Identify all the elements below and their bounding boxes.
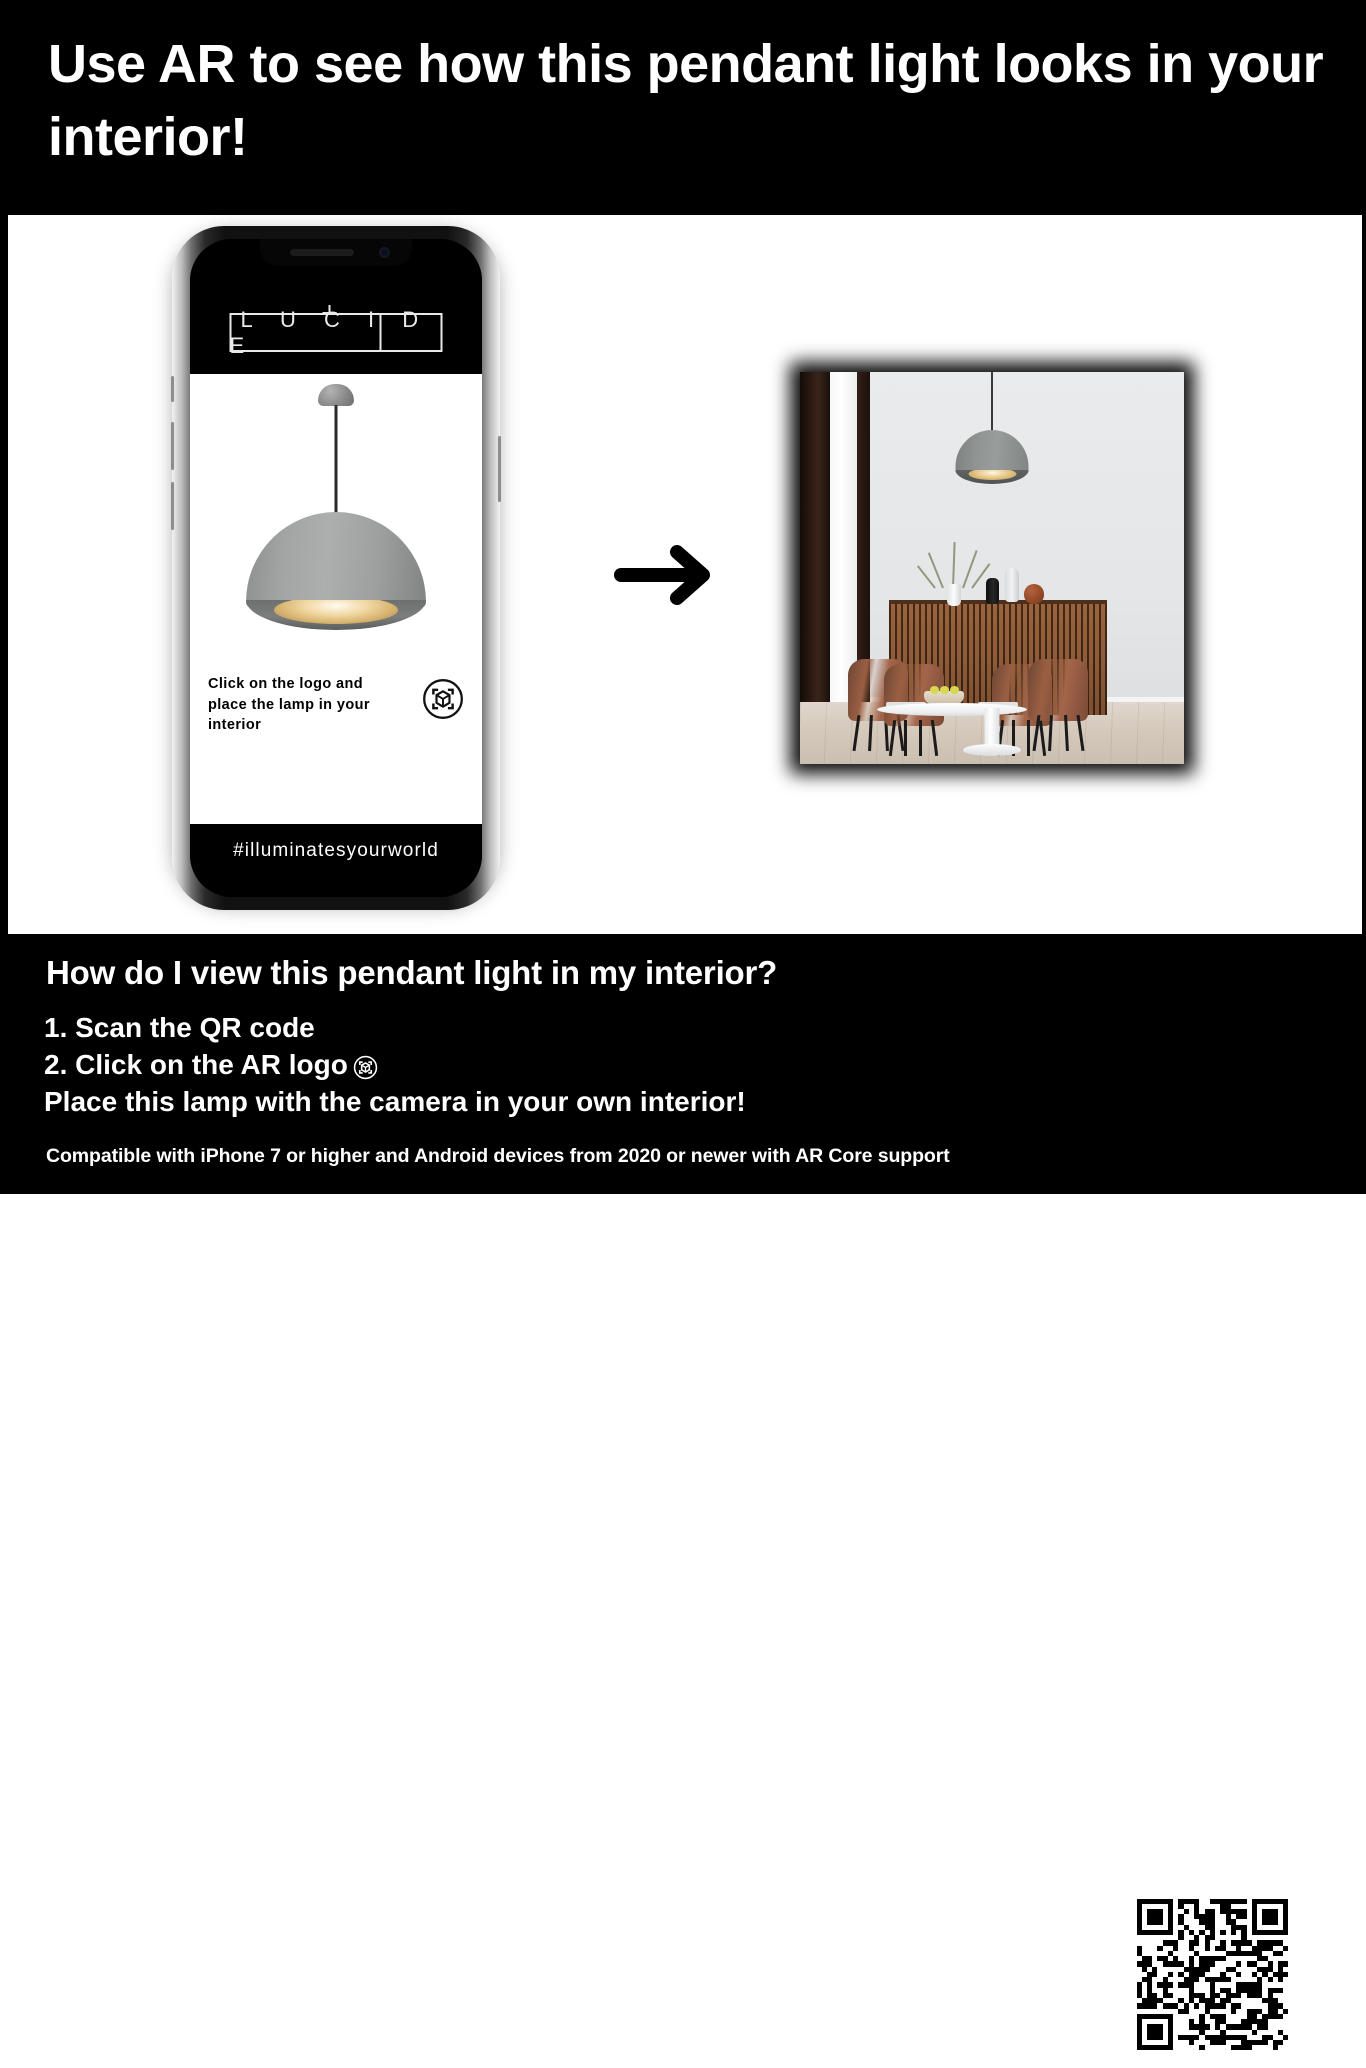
hashtag-label: #illuminatesyourworld	[233, 840, 439, 862]
footer-heading: How do I view this pendant light in my i…	[46, 954, 777, 992]
phone-screen[interactable]: L U C I D E	[190, 239, 482, 897]
step-3: Place this lamp with the camera in your …	[44, 1083, 746, 1120]
poster-root: Use AR to see how this pendant light loo…	[0, 0, 1366, 1194]
interior-room-photo	[790, 362, 1194, 774]
pendant-lamp-illustration	[246, 384, 426, 644]
arrow-right-icon	[613, 540, 718, 610]
photo-frame	[800, 372, 1184, 764]
dining-table-base	[963, 744, 1021, 756]
plant-vase	[947, 584, 961, 606]
header-banner: Use AR to see how this pendant light loo…	[0, 0, 1366, 215]
fruit	[950, 686, 959, 694]
lucide-logo[interactable]: L U C I D E	[230, 313, 443, 352]
ar-cube-icon[interactable]	[422, 678, 464, 720]
qr-code-panel[interactable]	[1120, 1881, 1305, 2068]
footer-steps: 1. Scan the QR code 2. Click on the AR l…	[44, 1009, 746, 1121]
fruit	[930, 686, 939, 694]
dining-table-top	[877, 703, 1027, 716]
lamp-ceiling-rose	[318, 384, 354, 406]
ar-cube-icon[interactable]	[353, 1052, 378, 1077]
app-content-area: Click on the logo and place the lamp in …	[190, 374, 482, 824]
step-3-label: Place this lamp with the camera in your …	[44, 1083, 746, 1120]
lamp-cord	[335, 405, 338, 519]
phone-volume-up-button[interactable]	[171, 422, 174, 470]
logo-wordmark: L U C I D E	[230, 313, 443, 352]
front-camera-icon	[379, 247, 390, 258]
phone-power-button[interactable]	[498, 436, 501, 502]
lamp-shade-opening	[246, 600, 426, 630]
phone-notch	[260, 239, 412, 266]
photo-lamp-cord	[991, 372, 993, 432]
step-2: 2. Click on the AR logo	[44, 1046, 746, 1083]
photo-lamp-glow	[968, 470, 1016, 480]
lamp-dome-shade	[246, 512, 426, 608]
chair-right-front	[1028, 659, 1088, 751]
phone-body: L U C I D E	[172, 226, 500, 910]
qr-code[interactable]	[1137, 1899, 1289, 2051]
step-2-label: 2. Click on the AR logo	[44, 1046, 348, 1083]
phone-mute-switch[interactable]	[171, 376, 174, 402]
phone-volume-down-button[interactable]	[171, 482, 174, 530]
visual-stage: L U C I D E	[4, 215, 1362, 934]
step-1: 1. Scan the QR code	[44, 1009, 746, 1046]
lamp-bulb-glow	[274, 600, 398, 624]
instruction-row: Click on the logo and place the lamp in …	[208, 674, 464, 736]
black-vase	[986, 578, 999, 604]
app-footer-bar: #illuminatesyourworld	[190, 824, 482, 897]
compatibility-note: Compatible with iPhone 7 or higher and A…	[46, 1145, 950, 1168]
instruction-text: Click on the logo and place the lamp in …	[208, 674, 384, 736]
phone-mockup: L U C I D E	[166, 224, 506, 914]
step-1-label: 1. Scan the QR code	[44, 1009, 315, 1046]
white-vase	[1005, 568, 1019, 602]
page-title: Use AR to see how this pendant light loo…	[48, 28, 1338, 174]
terracotta-vase	[1024, 584, 1044, 604]
olive-branch-plant	[926, 538, 982, 588]
fruit	[940, 686, 949, 694]
earpiece-speaker-icon	[290, 249, 354, 256]
